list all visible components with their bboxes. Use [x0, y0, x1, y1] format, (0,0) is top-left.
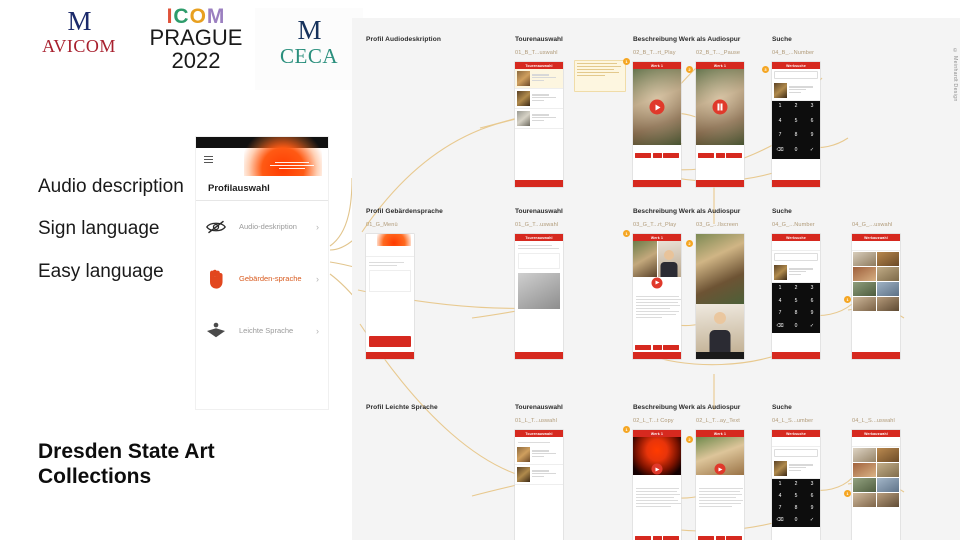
keypad-key[interactable]: 9: [804, 503, 820, 515]
row-label-sign-language: Profil Gebärdensprache: [366, 208, 443, 215]
screen-tour-list-easy[interactable]: Tourenauswahl: [515, 430, 563, 540]
search-result-item[interactable]: [772, 459, 820, 479]
keypad-key[interactable]: 2: [788, 479, 804, 491]
tab-number[interactable]: [772, 241, 796, 250]
tour-text: [515, 437, 563, 443]
result-text: [789, 464, 818, 472]
action-button[interactable]: [653, 345, 662, 350]
screen-code-04-l-number: 04_L_S...umber: [772, 418, 813, 424]
artwork-caption: [696, 475, 744, 488]
keypad-key[interactable]: 0: [788, 321, 804, 334]
artwork-preview: [633, 241, 657, 277]
screen-text-artwork-easy[interactable]: Werk 1: [696, 430, 744, 540]
icom-city-label: PRAGUE: [142, 27, 250, 49]
sign-language-video: [658, 241, 682, 277]
screen-topbar-label: Werk 1: [651, 432, 663, 436]
play-button[interactable]: [650, 100, 665, 115]
keypad-key[interactable]: 6: [804, 116, 820, 131]
action-button-row[interactable]: [633, 536, 681, 540]
screen-code-04-b-number: 04_B_...Number: [772, 50, 814, 56]
logo-icom-prague-2022: ICOM PRAGUE 2022: [142, 6, 250, 73]
screen-topbar-label: Tourenauswahl: [525, 432, 552, 436]
chevron-right-icon: ›: [316, 222, 319, 232]
action-button[interactable]: [726, 153, 742, 158]
screen-topbar-label: Werkauswahl: [864, 236, 888, 240]
action-button[interactable]: [653, 536, 662, 540]
easy-language-text: [633, 488, 681, 507]
play-button[interactable]: [652, 464, 663, 475]
screen-signlang-fullscreen[interactable]: [696, 234, 744, 359]
flow-node-marker: 2: [686, 240, 693, 247]
screen-topbar: Werkauswahl: [852, 234, 900, 241]
screen-code-04-l-auswahl: 04_L_S...uswahl: [852, 418, 895, 424]
chevron-right-icon: ›: [316, 326, 319, 336]
action-button[interactable]: [653, 153, 662, 158]
search-mode-tabs[interactable]: [772, 241, 820, 251]
col-label-tour-row3: Tourenauswahl: [515, 404, 563, 411]
artwork-tile[interactable]: [853, 267, 876, 281]
screen-bottom-bar[interactable]: [515, 352, 563, 359]
action-button[interactable]: [716, 536, 725, 540]
action-button[interactable]: [726, 536, 742, 540]
avicom-wordmark: AVICOM: [24, 36, 134, 57]
artwork-tile[interactable]: [877, 478, 900, 492]
row-label-easy-language: Profil Leichte Sprache: [366, 404, 438, 411]
artwork-tile[interactable]: [877, 252, 900, 266]
keypad-key[interactable]: 3: [804, 101, 820, 116]
hamburger-icon[interactable]: [204, 156, 213, 163]
tour-thumbnail: [517, 467, 530, 482]
screen-topbar: Werk 1: [633, 430, 681, 437]
artwork-tile[interactable]: [853, 252, 876, 266]
brand-logo-icon: [268, 160, 316, 171]
result-thumbnail: [774, 461, 787, 476]
search-result-item[interactable]: [772, 81, 820, 101]
action-button[interactable]: [635, 536, 651, 540]
phone-screen-title: Profilauswahl: [208, 183, 270, 194]
screen-search-grid-sign[interactable]: Werkauswahl: [852, 234, 900, 359]
keypad-key[interactable]: 5: [788, 296, 804, 309]
keypad-backspace-key[interactable]: ⌫: [772, 515, 788, 527]
tab-browse[interactable]: [796, 437, 820, 446]
artwork-preview: [633, 437, 681, 475]
keypad-key[interactable]: 3: [804, 283, 820, 296]
artwork-fullscreen: [696, 234, 744, 304]
phone-header: Profilauswahl: [196, 148, 328, 201]
slide-root: M AVICOM ICOM PRAGUE 2022 M CECA Audio d…: [0, 0, 960, 540]
numeric-keypad[interactable]: 1 2 3 4 5 6 7 8 9 ⌫ 0 ✓: [772, 101, 820, 159]
screen-artwork-pause-audio[interactable]: Werk 1: [696, 62, 744, 187]
action-button-row[interactable]: [696, 153, 744, 158]
artwork-tile[interactable]: [853, 493, 876, 507]
tour-item-text: [532, 114, 561, 122]
screen-search-grid-easy[interactable]: Werkauswahl: [852, 430, 900, 540]
search-mode-tabs[interactable]: [772, 437, 820, 447]
search-input[interactable]: [774, 449, 818, 457]
avicom-monogram-icon: M: [24, 8, 134, 35]
action-button[interactable]: [716, 153, 725, 158]
screen-topbar-label: Tourenauswahl: [525, 64, 552, 68]
screen-bottom-bar[interactable]: [633, 180, 681, 187]
numeric-keypad[interactable]: 1 2 3 4 5 6 7 8 9 ⌫ 0 ✓: [772, 479, 820, 527]
keypad-backspace-key[interactable]: ⌫: [772, 145, 788, 160]
action-button[interactable]: [663, 153, 679, 158]
flow-node-marker: 2: [686, 436, 693, 443]
keypad-key[interactable]: 9: [804, 130, 820, 145]
open-book-icon: [205, 320, 227, 342]
tab-number[interactable]: [772, 437, 796, 446]
tour-item-text: [532, 470, 561, 478]
flow-node-marker: 1: [844, 490, 851, 497]
flow-node-marker: 1: [623, 230, 630, 237]
col-label-description-row3: Beschreibung Werk als Audiospur: [633, 404, 740, 411]
screen-search-keypad-easy[interactable]: Werksuche 1 2 3 4 5 6 7 8 9 ⌫: [772, 430, 820, 540]
keypad-key[interactable]: 4: [772, 116, 788, 131]
search-result-item[interactable]: [772, 263, 820, 283]
screen-tour-list-sign[interactable]: Tourenauswahl: [515, 234, 563, 359]
screen-topbar: Werk 1: [633, 234, 681, 241]
screen-bottom-bar[interactable]: [696, 180, 744, 187]
screen-code-01-g-menu: 01_G_Menü: [366, 222, 398, 228]
screen-topbar-label: Werksuche: [786, 64, 806, 68]
icom-letter-c: C: [173, 6, 189, 27]
screen-signlang-play[interactable]: Werk 1: [633, 234, 681, 359]
screen-code-03-g-fullscreen: 03_G_...llscreen: [696, 222, 738, 228]
keypad-key[interactable]: 4: [772, 491, 788, 503]
search-mode-tabs[interactable]: [852, 241, 900, 251]
easy-language-text: [696, 488, 744, 507]
tab-browse[interactable]: [876, 241, 900, 250]
screen-bottom-bar[interactable]: [633, 352, 681, 359]
keypad-key[interactable]: 1: [772, 283, 788, 296]
action-button-row[interactable]: [696, 536, 744, 540]
action-button[interactable]: [635, 153, 651, 158]
keypad-key[interactable]: 3: [804, 479, 820, 491]
icom-letter-o: O: [190, 6, 207, 27]
keypad-key[interactable]: 8: [788, 308, 804, 321]
keypad-key[interactable]: 2: [788, 101, 804, 116]
search-mode-tabs[interactable]: [852, 437, 900, 447]
keypad-key[interactable]: 6: [804, 296, 820, 309]
action-button[interactable]: [663, 536, 679, 540]
result-text: [789, 268, 818, 276]
action-button[interactable]: [635, 345, 651, 350]
play-button[interactable]: [652, 277, 663, 288]
screen-topbar-label: Werksuche: [786, 432, 806, 436]
screen-topbar-label: Tourenauswahl: [525, 236, 552, 240]
artwork-tile[interactable]: [877, 297, 900, 311]
col-label-search-row3: Suche: [772, 404, 792, 411]
keypad-key[interactable]: 1: [772, 101, 788, 116]
keypad-confirm-key[interactable]: ✓: [804, 145, 820, 160]
screen-bottom-bar[interactable]: [772, 352, 820, 359]
ceca-wordmark: CECA: [255, 44, 363, 69]
keypad-key[interactable]: 0: [788, 145, 804, 160]
screen-bottom-bar[interactable]: [515, 180, 563, 187]
profile-selection-phone[interactable]: Profilauswahl Audio-deskription › Gebärd…: [196, 137, 328, 409]
screen-code-01-l-tour: 01_L_T...uswahl: [515, 418, 557, 424]
keypad-key[interactable]: 5: [788, 116, 804, 131]
screen-topbar: Werk 1: [696, 62, 744, 69]
artwork-tile[interactable]: [853, 478, 876, 492]
screen-topbar: Werksuche: [772, 62, 820, 69]
pause-button[interactable]: [713, 100, 728, 115]
keypad-backspace-key[interactable]: ⌫: [772, 321, 788, 334]
artwork-caption: [633, 288, 681, 296]
row-label-audio-description: Profil Audiodeskription: [366, 36, 441, 43]
screen-search-keypad-sign[interactable]: Werksuche 1 2 3 4 5 6 7 8 9 ⌫: [772, 234, 820, 359]
screen-topbar-label: Werk 1: [714, 432, 726, 436]
play-button[interactable]: [715, 464, 726, 475]
profile-row-sign-language[interactable]: Gebärden-sprache ›: [196, 253, 328, 305]
keypad-key[interactable]: 9: [804, 308, 820, 321]
flow-node-marker: 3: [762, 66, 769, 73]
menu-text: [366, 257, 414, 266]
col-label-tour-row1: Tourenauswahl: [515, 36, 563, 43]
keypad-key[interactable]: 1: [772, 479, 788, 491]
chevron-right-icon: ›: [316, 274, 319, 284]
screen-code-02-l-copy: 02_L_T...t Copy: [633, 418, 674, 424]
result-thumbnail: [774, 83, 787, 98]
tour-item-text: [532, 94, 561, 102]
screen-artwork-play-audio[interactable]: Werk 1: [633, 62, 681, 187]
icom-year-label: 2022: [142, 49, 250, 72]
keypad-key[interactable]: 6: [804, 491, 820, 503]
screen-topbar-label: Werk 1: [651, 236, 663, 240]
callout-note-row1: [574, 60, 626, 92]
screen-text-dark-easy[interactable]: Werk 1: [633, 430, 681, 540]
artwork-grid[interactable]: [852, 447, 900, 508]
logo-strip: M AVICOM ICOM PRAGUE 2022 M CECA: [0, 0, 360, 95]
flow-node-marker: 1: [844, 296, 851, 303]
tab-browse[interactable]: [796, 241, 820, 250]
flow-node-marker: 1: [623, 426, 630, 433]
action-button[interactable]: [663, 345, 679, 350]
description-text: [633, 296, 681, 318]
screen-topbar: Werksuche: [772, 234, 820, 241]
tour-thumbnail: [517, 111, 530, 126]
flow-node-marker: 2: [686, 66, 693, 73]
artwork-caption: [633, 145, 681, 153]
icom-letter-i: I: [167, 6, 174, 27]
keypad-key[interactable]: 7: [772, 503, 788, 515]
screen-tour-list-audio[interactable]: Tourenauswahl: [515, 62, 563, 187]
screen-code-01-b-tour: 01_B_T...uswahl: [515, 50, 558, 56]
keypad-key[interactable]: 7: [772, 308, 788, 321]
screen-bottom-bar[interactable]: [366, 352, 414, 359]
action-button[interactable]: [698, 153, 714, 158]
artwork-tile[interactable]: [853, 448, 876, 462]
tour-item[interactable]: [515, 89, 563, 109]
screen-topbar: Tourenauswahl: [515, 234, 563, 241]
tab-browse[interactable]: [876, 437, 900, 446]
icom-letters: ICOM: [142, 6, 250, 27]
artwork-tile[interactable]: [877, 448, 900, 462]
tour-thumbnail: [517, 91, 530, 106]
profile-label-sign-language: Gebärden-sprache: [239, 274, 304, 284]
page-title: Dresden State Art Collections: [38, 440, 288, 490]
tour-thumbnail: [517, 71, 530, 86]
col-label-description-row1: Beschreibung Werk als Audiospur: [633, 36, 740, 43]
search-input[interactable]: [774, 253, 818, 261]
screen-code-04-g-auswahl: 04_G_...uswahl: [852, 222, 892, 228]
screen-bottom-bar[interactable]: [696, 352, 744, 359]
profile-label-audio-description: Audio-deskription: [239, 222, 304, 232]
sign-language-video: [696, 304, 744, 352]
search-input[interactable]: [774, 71, 818, 79]
flow-diagram-board: © Meinhardt Design: [352, 18, 960, 540]
icom-letter-m: M: [207, 6, 226, 27]
screen-code-02-b-play: 02_B_T...rt_Play: [633, 50, 676, 56]
action-button-row[interactable]: [633, 153, 681, 158]
tour-thumbnail: [517, 447, 530, 462]
screen-code-02-l-playtext: 02_L_T...ay_Text: [696, 418, 740, 424]
screen-menu-sign[interactable]: [366, 234, 414, 359]
screen-topbar: Werk 1: [696, 430, 744, 437]
screen-topbar: Tourenauswahl: [515, 430, 563, 437]
screen-topbar: Tourenauswahl: [515, 62, 563, 69]
tour-item[interactable]: [515, 109, 563, 129]
keypad-key[interactable]: 5: [788, 491, 804, 503]
screen-bottom-bar[interactable]: [852, 352, 900, 359]
action-button[interactable]: [698, 536, 714, 540]
keypad-key[interactable]: 8: [788, 130, 804, 145]
tour-item[interactable]: [515, 69, 563, 89]
artwork-tile[interactable]: [877, 282, 900, 296]
keypad-key[interactable]: 4: [772, 296, 788, 309]
artwork-caption: [696, 145, 744, 153]
keypad-key[interactable]: 7: [772, 130, 788, 145]
screen-code-02-b-pause: 02_B_T..._Pause: [696, 50, 740, 56]
screen-code-01-g-tour: 01_G_T...uswahl: [515, 222, 558, 228]
screen-bottom-bar[interactable]: [772, 180, 820, 187]
tour-item[interactable]: [515, 465, 563, 485]
screen-topbar: Werksuche: [772, 430, 820, 437]
artwork-tile[interactable]: [877, 463, 900, 477]
keypad-confirm-key[interactable]: ✓: [804, 321, 820, 334]
result-text: [789, 86, 818, 94]
logo-avicom: M AVICOM: [24, 8, 134, 57]
artwork-tile[interactable]: [853, 297, 876, 311]
tour-text: [515, 241, 563, 249]
profile-row-audio-description[interactable]: Audio-deskription ›: [196, 201, 328, 253]
screen-topbar: Werkauswahl: [852, 430, 900, 437]
screen-code-04-g-number: 04_G_...Number: [772, 222, 815, 228]
logo-ceca: M CECA: [255, 8, 363, 90]
artwork-tile[interactable]: [877, 493, 900, 507]
col-label-description-row2: Beschreibung Werk als Audiospur: [633, 208, 740, 215]
screen-code-03-g-play: 03_G_T...rt_Play: [633, 222, 676, 228]
open-hand-icon: [205, 268, 227, 290]
flow-node-marker: 1: [623, 58, 630, 65]
tour-item-text: [532, 450, 561, 458]
profile-row-easy-language[interactable]: Leichte Sprache ›: [196, 305, 328, 357]
tour-item-text: [532, 74, 561, 82]
artwork-grid[interactable]: [852, 251, 900, 312]
artwork-tile[interactable]: [877, 267, 900, 281]
col-label-tour-row2: Tourenauswahl: [515, 208, 563, 215]
screen-search-keypad-audio[interactable]: Werksuche 1 2 3 4 5 6 7 8 9 ⌫ 0: [772, 62, 820, 187]
numeric-keypad[interactable]: 1 2 3 4 5 6 7 8 9 ⌫ 0 ✓: [772, 283, 820, 333]
action-button-row[interactable]: [633, 345, 681, 350]
screen-topbar-label: Werk 1: [714, 64, 726, 68]
keypad-key[interactable]: 2: [788, 283, 804, 296]
screen-topbar-label: Werksuche: [786, 236, 806, 240]
screen-topbar-label: Werk 1: [651, 64, 663, 68]
result-thumbnail: [774, 265, 787, 280]
eye-slash-icon: [205, 216, 227, 238]
col-label-search-row1: Suche: [772, 36, 792, 43]
screen-topbar-label: Werkauswahl: [864, 432, 888, 436]
keypad-key[interactable]: 0: [788, 515, 804, 527]
ceca-monogram-icon: M: [255, 8, 363, 44]
artwork-tile[interactable]: [853, 463, 876, 477]
artwork-preview: [696, 437, 744, 475]
artwork-tile[interactable]: [853, 282, 876, 296]
tab-number[interactable]: [852, 437, 876, 446]
profile-label-easy-language: Leichte Sprache: [239, 326, 304, 336]
tour-item[interactable]: [515, 445, 563, 465]
col-label-search-row2: Suche: [772, 208, 792, 215]
keypad-key[interactable]: 8: [788, 503, 804, 515]
artwork-caption: [633, 475, 681, 488]
screen-topbar: Werk 1: [633, 62, 681, 69]
tab-number[interactable]: [852, 241, 876, 250]
keypad-confirm-key[interactable]: ✓: [804, 515, 820, 527]
